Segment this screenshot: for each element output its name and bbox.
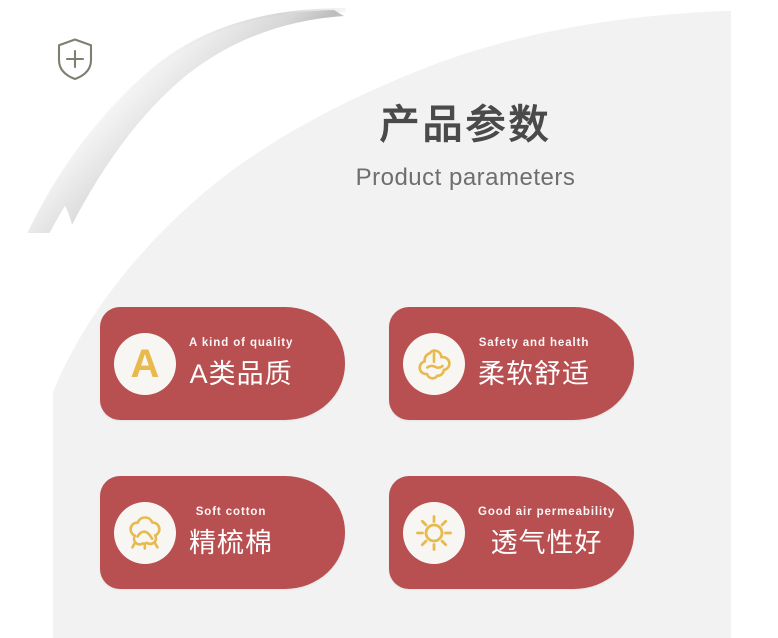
cotton-boll-icon [123, 512, 167, 554]
feature-card-air-permeability[interactable]: Good air permeability 透气性好 [389, 476, 634, 589]
product-parameters-page: 产品参数 Product parameters A A kind of qual… [0, 0, 778, 638]
feature-card-cn: 精梳棉 [189, 521, 273, 560]
shield-plus-icon [53, 36, 97, 82]
page-title-cn: 产品参数 [0, 100, 731, 150]
feature-card-grid: A A kind of quality A类品质 Safety a [100, 307, 700, 589]
feature-card-en: Soft cotton [196, 506, 267, 518]
feature-card-row: A A kind of quality A类品质 Safety a [100, 307, 700, 420]
feature-card-text: Good air permeability 透气性好 [478, 506, 621, 560]
feature-card-row: Soft cotton 精梳棉 [100, 476, 700, 589]
cotton-boll-icon-wrap [114, 502, 176, 564]
page-heading: 产品参数 Product parameters [0, 100, 731, 192]
page-title-en: Product parameters [0, 164, 731, 192]
feature-card-text: A kind of quality A类品质 [189, 337, 299, 391]
feature-card-text: Soft cotton 精梳棉 [189, 506, 279, 560]
feature-card-soft-cotton[interactable]: Soft cotton 精梳棉 [100, 476, 345, 589]
feature-card-safety-health[interactable]: Safety and health 柔软舒适 [389, 307, 634, 420]
feature-card-en: Safety and health [479, 337, 590, 349]
sun-icon [412, 511, 456, 555]
letter-a-glyph: A [131, 344, 160, 384]
feature-card-a-quality[interactable]: A A kind of quality A类品质 [100, 307, 345, 420]
feature-card-cn: A类品质 [190, 352, 293, 391]
feature-card-cn: 柔软舒适 [478, 352, 590, 391]
cotton-cloud-icon-wrap [403, 333, 465, 395]
feature-card-cn: 透气性好 [491, 521, 603, 560]
cotton-cloud-icon [412, 344, 456, 384]
feature-card-text: Safety and health 柔软舒适 [478, 337, 596, 391]
shield-plus-logo [53, 36, 97, 82]
sun-icon-wrap [403, 502, 465, 564]
feature-card-en: A kind of quality [189, 337, 293, 349]
feature-card-en: Good air permeability [478, 506, 615, 518]
letter-a-icon: A [114, 333, 176, 395]
